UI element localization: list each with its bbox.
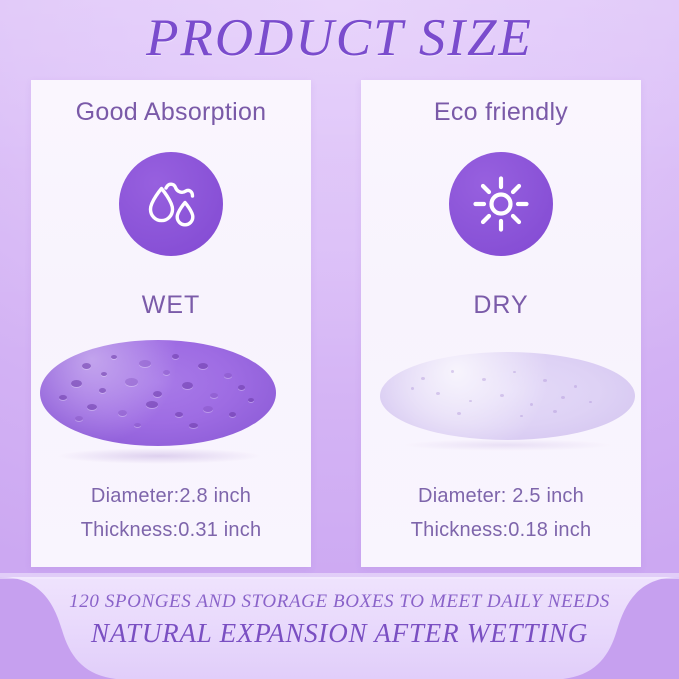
dry-sponge-area bbox=[361, 330, 641, 480]
card-heading-eco-friendly: Eco friendly bbox=[361, 98, 641, 127]
card-wet: Good Absorption WET bbox=[31, 80, 311, 567]
spec-thickness-dry: Thickness:0.18 inch bbox=[361, 513, 641, 547]
state-label-wet: WET bbox=[31, 291, 311, 320]
dry-sponge-shadow bbox=[402, 439, 613, 451]
specs-dry: Diameter: 2.5 inch Thickness:0.18 inch bbox=[361, 479, 641, 547]
product-size-poster: PRODUCT SIZE Good Absorption WET bbox=[0, 0, 679, 679]
wet-sponge-image bbox=[40, 340, 276, 460]
dry-sponge-image bbox=[380, 352, 635, 448]
page-title: PRODUCT SIZE bbox=[0, 8, 679, 68]
sun-icon-badge bbox=[449, 152, 553, 256]
water-drops-icon-badge bbox=[119, 152, 223, 256]
footer-band: 120 SPONGES AND STORAGE BOXES TO MEET DA… bbox=[0, 567, 679, 679]
footer-line-1: 120 SPONGES AND STORAGE BOXES TO MEET DA… bbox=[0, 591, 679, 613]
card-dry: Eco friendly DRY bbox=[361, 80, 641, 567]
state-label-dry: DRY bbox=[361, 291, 641, 320]
wet-sponge-area bbox=[31, 330, 311, 480]
specs-wet: Diameter:2.8 inch Thickness:0.31 inch bbox=[31, 479, 311, 547]
spec-diameter-dry: Diameter: 2.5 inch bbox=[361, 479, 641, 513]
wet-sponge-top bbox=[40, 340, 276, 446]
card-heading-good-absorption: Good Absorption bbox=[31, 98, 311, 127]
footer-line-2: NATURAL EXPANSION AFTER WETTING bbox=[0, 618, 679, 649]
sun-icon bbox=[472, 175, 530, 233]
dry-sponge-top bbox=[380, 352, 635, 440]
wet-sponge-shadow bbox=[56, 448, 262, 464]
spec-diameter-wet: Diameter:2.8 inch bbox=[31, 479, 311, 513]
water-drops-icon bbox=[140, 173, 202, 235]
spec-thickness-wet: Thickness:0.31 inch bbox=[31, 513, 311, 547]
